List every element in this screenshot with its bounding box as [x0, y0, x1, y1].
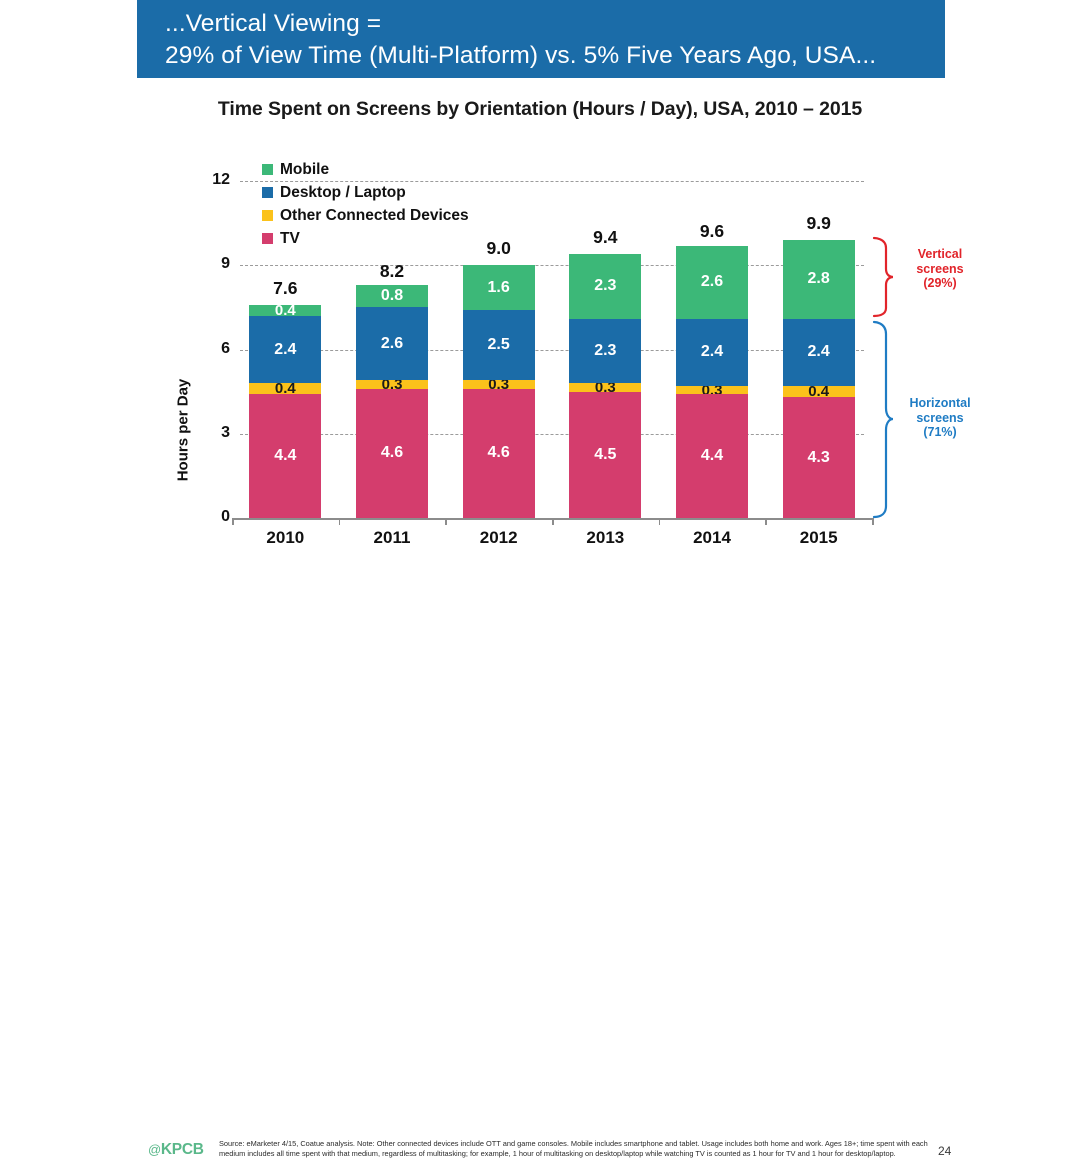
y-tick-label-3: 3 [196, 424, 230, 442]
bar-segment-desktop-laptop-2014[interactable]: 2.4 [676, 319, 748, 386]
bar-segment-tv-2013[interactable]: 4.5 [569, 392, 641, 518]
vertical-annot-line1: Vertical [890, 247, 990, 262]
bar-segment-tv-2014[interactable]: 4.4 [676, 394, 748, 518]
header-banner: ...Vertical Viewing = 29% of View Time (… [137, 0, 945, 78]
x-axis-label-2012: 2012 [444, 528, 554, 548]
y-tick-label-9: 9 [196, 255, 230, 273]
bar-segment-tv-2012[interactable]: 4.6 [463, 389, 535, 518]
x-axis-label-2011: 2011 [337, 528, 447, 548]
chart-plot-area: Hours per Day 036912 MobileDesktop / Lap… [0, 130, 1080, 560]
legend-label: Desktop / Laptop [280, 184, 406, 202]
legend-label: TV [280, 230, 300, 248]
x-axis-label-2013: 2013 [550, 528, 660, 548]
x-axis-tick [552, 518, 554, 525]
bar-segment-desktop-laptop-2012[interactable]: 2.5 [463, 310, 535, 380]
page-number: 24 [938, 1144, 951, 1158]
legend-label: Other Connected Devices [280, 207, 469, 225]
legend-item-other-connected-devices[interactable]: Other Connected Devices [262, 204, 469, 227]
horizontal-screens-annotation: Horizontal screens (71%) [890, 396, 990, 440]
legend-item-tv[interactable]: TV [262, 227, 469, 250]
bar-total-label-2014: 9.6 [657, 221, 767, 242]
bar-segment-desktop-laptop-2013[interactable]: 2.3 [569, 319, 641, 384]
bar-total-label-2015: 9.9 [764, 213, 874, 234]
x-axis-tick [339, 518, 341, 525]
bar-segment-tv-2011[interactable]: 4.6 [356, 389, 428, 518]
bar-segment-mobile-2015[interactable]: 2.8 [783, 240, 855, 319]
bar-total-label-2011: 8.2 [337, 261, 447, 282]
header-line-2: 29% of View Time (Multi-Platform) vs. 5%… [165, 40, 945, 72]
bar-segment-tv-2015[interactable]: 4.3 [783, 397, 855, 518]
bar-segment-other-connected-devices-2011[interactable]: 0.3 [356, 380, 428, 388]
header-line-1: ...Vertical Viewing = [165, 8, 945, 40]
bar-segment-other-connected-devices-2014[interactable]: 0.3 [676, 386, 748, 394]
legend-swatch-icon [262, 187, 273, 198]
bar-segment-mobile-2010[interactable]: 0.4 [249, 305, 321, 316]
vertical-annot-line2: screens [890, 262, 990, 277]
horizontal-annot-line2: screens [890, 411, 990, 426]
bar-segment-other-connected-devices-2015[interactable]: 0.4 [783, 386, 855, 397]
y-axis-title: Hours per Day [175, 379, 192, 482]
at-icon: @ [148, 1142, 161, 1157]
bar-stack-2010[interactable]: 0.42.40.44.4 [249, 305, 321, 518]
bar-stack-2013[interactable]: 2.32.30.34.5 [569, 254, 641, 518]
bar-segment-mobile-2012[interactable]: 1.6 [463, 265, 535, 310]
y-tick-label-0: 0 [196, 508, 230, 526]
chart-legend: MobileDesktop / LaptopOther Connected De… [262, 158, 469, 250]
gridline-3 [240, 434, 864, 435]
gridline-9 [240, 265, 864, 266]
bar-stack-2014[interactable]: 2.62.40.34.4 [676, 246, 748, 518]
bar-segment-mobile-2011[interactable]: 0.8 [356, 285, 428, 307]
x-axis-label-2015: 2015 [764, 528, 874, 548]
horizontal-annot-line1: Horizontal [890, 396, 990, 411]
x-axis-label-2010: 2010 [230, 528, 340, 548]
bar-segment-mobile-2014[interactable]: 2.6 [676, 246, 748, 319]
bar-total-label-2013: 9.4 [550, 227, 660, 248]
bar-total-label-2010: 7.6 [230, 278, 340, 299]
x-axis-tick [232, 518, 234, 525]
legend-item-mobile[interactable]: Mobile [262, 158, 469, 181]
legend-item-desktop-laptop[interactable]: Desktop / Laptop [262, 181, 469, 204]
gridline-6 [240, 350, 864, 351]
bar-stack-2011[interactable]: 0.82.60.34.6 [356, 285, 428, 518]
bar-segment-mobile-2013[interactable]: 2.3 [569, 254, 641, 319]
bar-segment-other-connected-devices-2013[interactable]: 0.3 [569, 383, 641, 391]
vertical-screens-annotation: Vertical screens (29%) [890, 247, 990, 291]
kpcb-logo-text: KPCB [161, 1141, 204, 1158]
legend-swatch-icon [262, 164, 273, 175]
horizontal-annot-line3: (71%) [890, 425, 990, 440]
bar-segment-desktop-laptop-2011[interactable]: 2.6 [356, 307, 428, 380]
y-tick-label-6: 6 [196, 340, 230, 358]
x-axis-tick [445, 518, 447, 525]
kpcb-logo: @KPCB [148, 1141, 204, 1159]
source-note: Source: eMarketer 4/15, Coatue analysis.… [219, 1139, 950, 1158]
legend-swatch-icon [262, 210, 273, 221]
bar-total-label-2012: 9.0 [444, 238, 554, 259]
y-tick-label-12: 12 [196, 171, 230, 189]
slide-root: { "header": { "line1": "...Vertical View… [0, 0, 1080, 608]
legend-label: Mobile [280, 161, 329, 179]
bar-segment-desktop-laptop-2015[interactable]: 2.4 [783, 319, 855, 386]
bar-segment-desktop-laptop-2010[interactable]: 2.4 [249, 316, 321, 383]
x-axis-tick [765, 518, 767, 525]
bar-stack-2015[interactable]: 2.82.40.44.3 [783, 240, 855, 518]
bar-stack-2012[interactable]: 1.62.50.34.6 [463, 265, 535, 518]
chart-title: Time Spent on Screens by Orientation (Ho… [0, 98, 1080, 121]
vertical-annot-line3: (29%) [890, 276, 990, 291]
footer: @KPCB Source: eMarketer 4/15, Coatue ana… [0, 566, 1080, 608]
legend-swatch-icon [262, 233, 273, 244]
x-axis-label-2014: 2014 [657, 528, 767, 548]
bar-segment-tv-2010[interactable]: 4.4 [249, 394, 321, 518]
bar-segment-other-connected-devices-2010[interactable]: 0.4 [249, 383, 321, 394]
x-axis-tick [659, 518, 661, 525]
bar-segment-other-connected-devices-2012[interactable]: 0.3 [463, 380, 535, 388]
